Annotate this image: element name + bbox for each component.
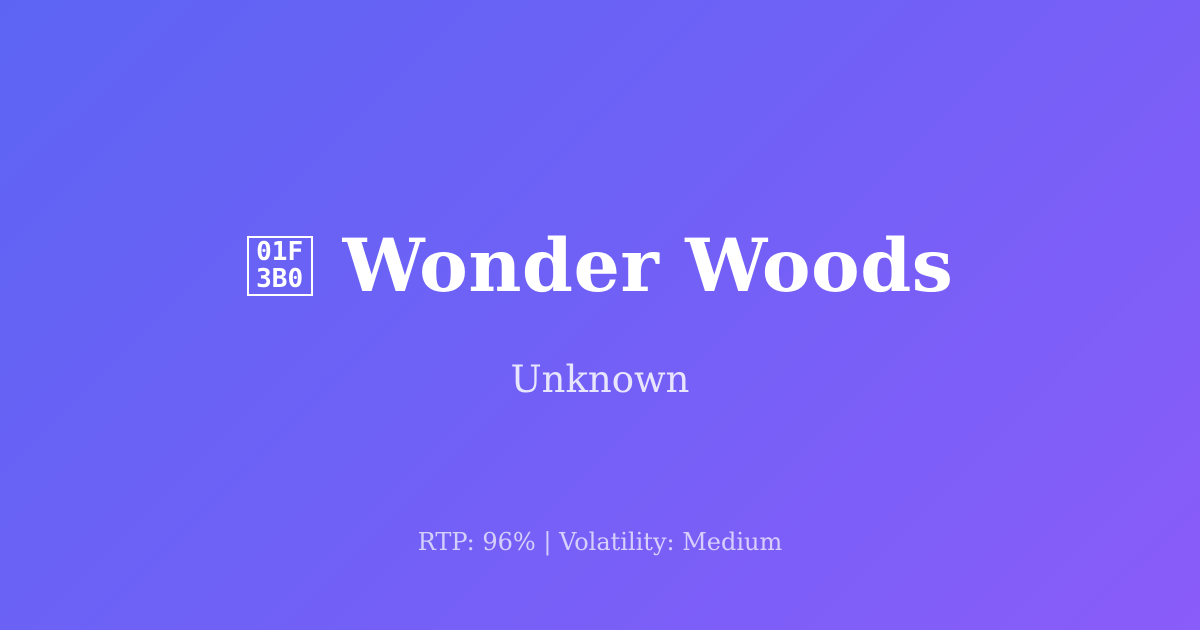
hero-section: 01F 3B0 Wonder Woods Unknown (0, 218, 1200, 401)
slot-machine-icon-codepoint-bottom: 3B0 (256, 266, 303, 293)
title-row: 01F 3B0 Wonder Woods (247, 218, 954, 314)
slot-machine-icon-codepoint-top: 01F (256, 239, 303, 266)
game-preview-card: 01F 3B0 Wonder Woods Unknown RTP: 96% | … (0, 0, 1200, 630)
slot-machine-icon: 01F 3B0 (247, 236, 313, 296)
game-stats-line: RTP: 96% | Volatility: Medium (0, 528, 1200, 557)
game-provider: Unknown (510, 360, 689, 401)
game-title: Wonder Woods (343, 228, 954, 305)
